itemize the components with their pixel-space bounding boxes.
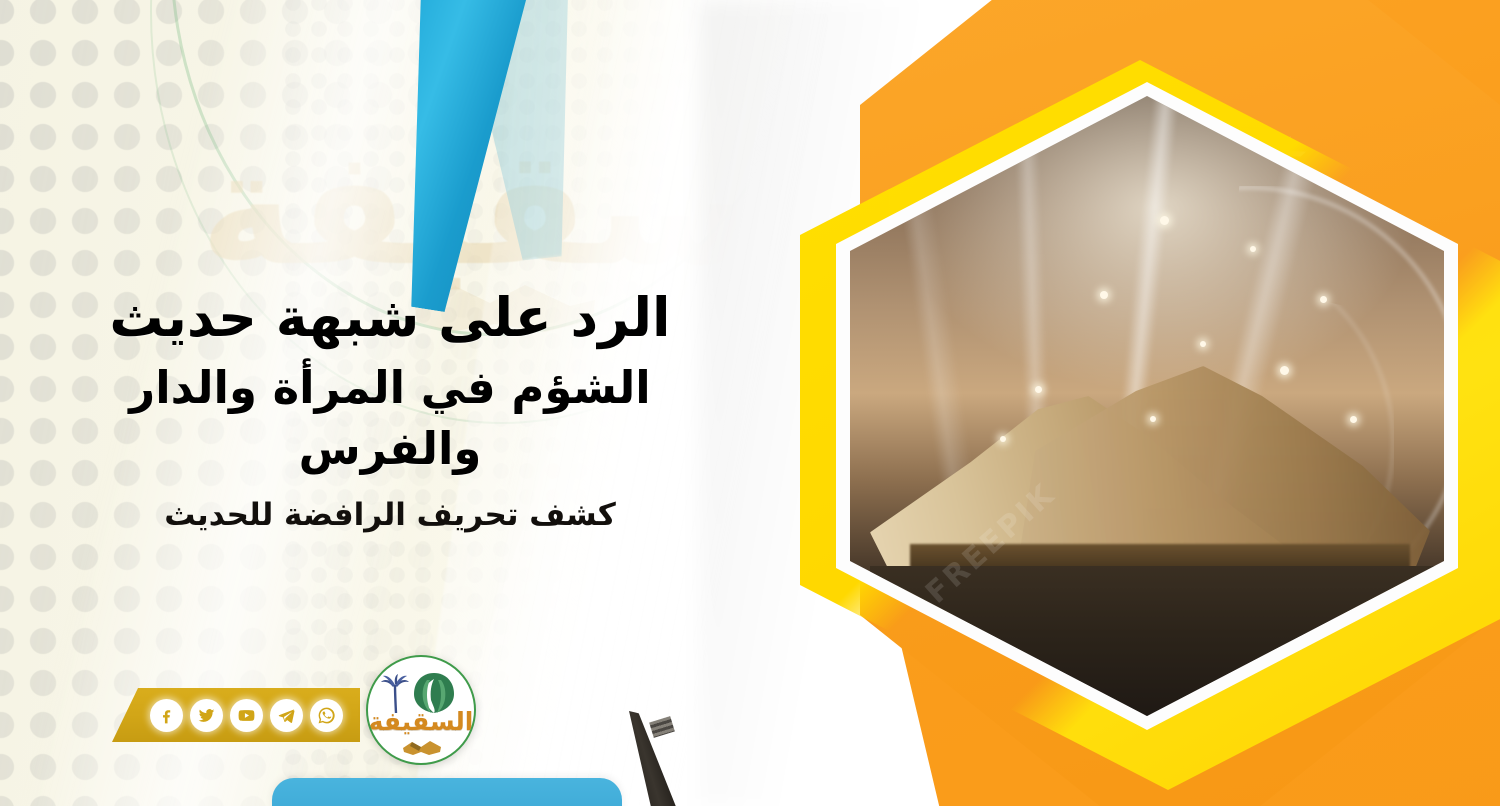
- page-title-line-2: الشؤم في المرأة والدار والفرس: [60, 358, 720, 479]
- twitter-icon[interactable]: [190, 699, 223, 732]
- sparkle: [1200, 341, 1206, 347]
- handshake-icon: [401, 737, 443, 757]
- page-subtitle: كشف تحريف الرافضة للحديث: [60, 495, 720, 535]
- page-title-line-1: الرد على شبهة حديث: [60, 282, 720, 354]
- sparkle: [1320, 296, 1327, 303]
- whatsapp-icon[interactable]: [310, 699, 343, 732]
- blue-footer-bar: [272, 778, 622, 806]
- sparkle: [1150, 416, 1156, 422]
- article-banner: السقيفة FREEPIK FREEPIK: [0, 0, 1500, 806]
- facebook-icon[interactable]: [150, 699, 183, 732]
- sparkle: [1350, 416, 1357, 423]
- sparkle: [1000, 436, 1006, 442]
- sparkle: [1160, 216, 1169, 225]
- brand-logo[interactable]: السقيفة: [366, 655, 476, 765]
- sparkle: [1250, 246, 1256, 252]
- youtube-icon[interactable]: [230, 699, 263, 732]
- telegram-icon[interactable]: [270, 699, 303, 732]
- brand-logo-wordmark: السقيفة: [368, 709, 474, 734]
- headline-block: الرد على شبهة حديث الشؤم في المرأة والدا…: [60, 282, 720, 535]
- social-links-bar: [112, 688, 360, 742]
- sparkle: [1280, 366, 1289, 375]
- hexagon-photo-frame: FREEPIK: [800, 60, 1480, 760]
- sparkle: [1100, 291, 1108, 299]
- sparkle: [1035, 386, 1042, 393]
